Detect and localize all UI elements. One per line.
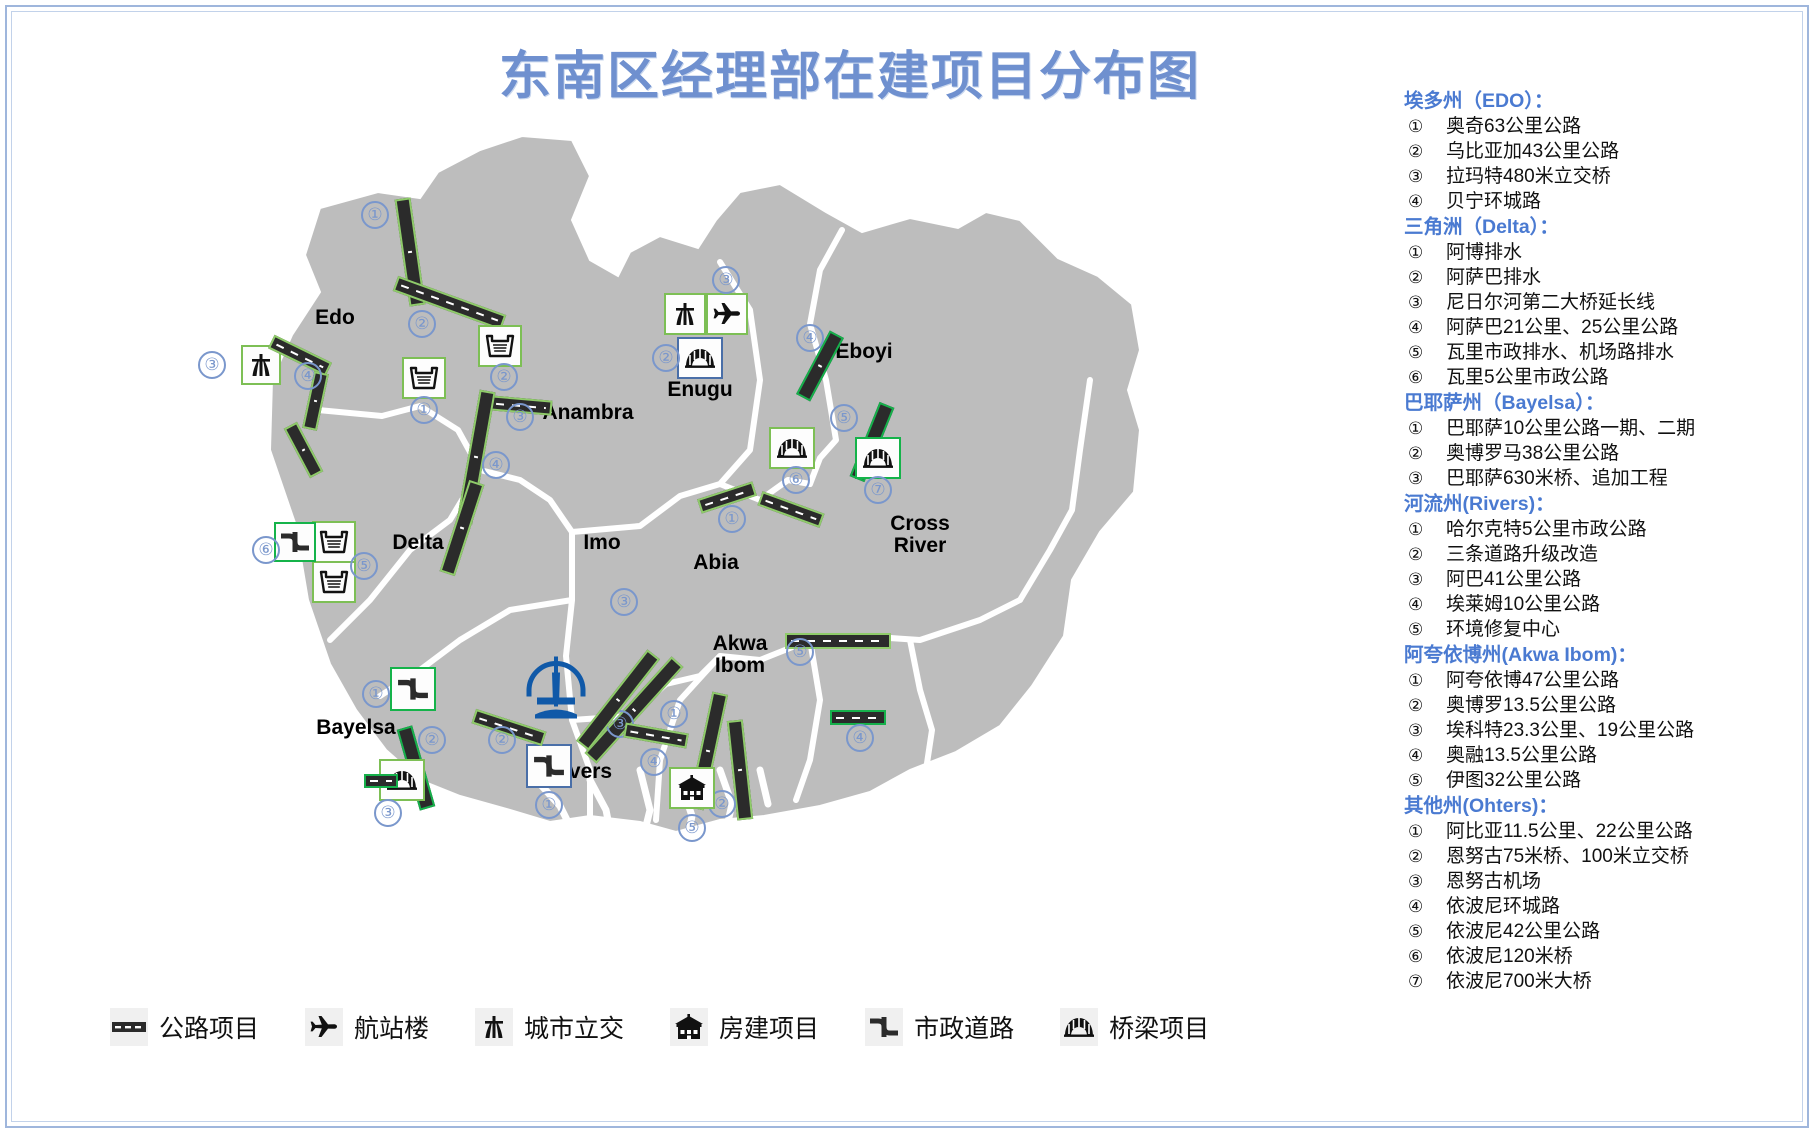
project-number: ③ — [1404, 466, 1446, 491]
project-number: ③ — [1404, 567, 1446, 592]
group-title-akwa-ibom: 阿夸依博州(Akwa Ibom)： — [1404, 643, 1794, 668]
index-oth-5: ⑤ — [830, 404, 858, 432]
index-riv-2: ② — [488, 726, 516, 754]
project-item[interactable]: ② 三条道路升级改造 — [1404, 542, 1794, 567]
index-delta-4: ④ — [482, 451, 510, 479]
bridge-marker-oth-2[interactable] — [677, 337, 723, 379]
project-label: 恩努古75米桥、100米立交桥 — [1446, 844, 1689, 869]
project-label: 埃科特23.3公里、19公里公路 — [1446, 718, 1694, 743]
project-item[interactable]: ③ 尼日尔河第二大桥延长线 — [1404, 290, 1794, 315]
project-label: 奥博罗13.5公里公路 — [1446, 693, 1616, 718]
project-number: ⑥ — [1404, 365, 1446, 390]
airplane-icon — [305, 1008, 343, 1046]
project-item[interactable]: ③ 拉玛特480米立交桥 — [1404, 164, 1794, 189]
road-icon — [110, 1008, 148, 1046]
project-index-list: 埃多州（EDO）： ① 奥奇63公里公路 ② 乌比亚加43公里公路 ③ 拉玛特4… — [1404, 88, 1794, 994]
project-item[interactable]: ② 乌比亚加43公里公路 — [1404, 139, 1794, 164]
project-item[interactable]: ⑤ 依波尼42公里公路 — [1404, 919, 1794, 944]
bridge-marker-oth-7[interactable] — [855, 437, 901, 479]
index-akwa-1: ① — [660, 700, 688, 728]
group-title-bayelsa: 巴耶萨州（Bayelsa）： — [1404, 391, 1794, 416]
municipal-road-marker-riv-1[interactable] — [526, 744, 572, 788]
bridge-marker-oth-6[interactable] — [769, 427, 815, 469]
project-number: ① — [1404, 819, 1446, 844]
legend-item-terminal[interactable]: 航站楼 — [305, 1008, 429, 1046]
map-poster: 东南区经理部在建项目分布图 — [0, 0, 1814, 1133]
project-item[interactable]: ⑤ 环境修复中心 — [1404, 617, 1794, 642]
legend-item-municipal-road[interactable]: 市政道路 — [865, 1008, 1014, 1046]
project-label: 依波尼环城路 — [1446, 894, 1560, 919]
legend-label: 公路项目 — [159, 1009, 259, 1045]
project-item[interactable]: ③ 巴耶萨630米桥、追加工程 — [1404, 466, 1794, 491]
interchange-icon — [671, 300, 699, 328]
project-item[interactable]: ⑥ 瓦里5公里市政公路 — [1404, 365, 1794, 390]
project-label: 阿博排水 — [1446, 240, 1522, 265]
project-label: 奥博罗马38公里公路 — [1446, 441, 1619, 466]
project-label: 巴耶萨10公里公路一期、二期 — [1446, 416, 1695, 441]
project-label: 依波尼700米大桥 — [1446, 969, 1592, 994]
project-number: ⑤ — [1404, 617, 1446, 642]
project-item[interactable]: ① 阿夸依博47公里公路 — [1404, 668, 1794, 693]
index-akwa-5: ⑤ — [786, 638, 814, 666]
project-label: 奥融13.5公里公路 — [1446, 743, 1597, 768]
index-akwa-4: ④ — [846, 724, 874, 752]
group-title-rivers: 河流州(Rivers)： — [1404, 492, 1794, 517]
index-delta-3: ③ — [506, 403, 534, 431]
index-edo-3: ③ — [198, 351, 226, 379]
municipal-road-icon — [280, 527, 310, 557]
project-item[interactable]: ④ 依波尼环城路 — [1404, 894, 1794, 919]
group-title-delta: 三角洲（Delta）： — [1404, 215, 1794, 240]
airplane-icon — [712, 301, 742, 327]
company-emblem — [523, 653, 589, 732]
project-number: ① — [1404, 668, 1446, 693]
bridge-icon — [684, 345, 716, 371]
project-number: ③ — [1404, 164, 1446, 189]
project-item[interactable]: ④ 阿萨巴21公里、25公里公路 — [1404, 315, 1794, 340]
interchange-marker-oth-2[interactable] — [664, 293, 706, 335]
project-number: ④ — [1404, 743, 1446, 768]
municipal-road-icon — [865, 1008, 903, 1046]
project-item[interactable]: ① 巴耶萨10公里公路一期、二期 — [1404, 416, 1794, 441]
legend-label: 桥梁项目 — [1109, 1009, 1209, 1045]
project-number: ④ — [1404, 894, 1446, 919]
project-number: ④ — [1404, 315, 1446, 340]
municipal-road-marker-delta-6[interactable] — [274, 522, 316, 562]
project-label: 依波尼120米桥 — [1446, 944, 1573, 969]
project-item[interactable]: ② 奥博罗13.5公里公路 — [1404, 693, 1794, 718]
building-icon — [670, 1008, 708, 1046]
drainage-icon — [318, 528, 350, 556]
index-riv-1: ① — [535, 791, 563, 819]
index-edo-1: ① — [361, 201, 389, 229]
project-item[interactable]: ① 哈尔克特5公里市政公路 — [1404, 517, 1794, 542]
project-number: ① — [1404, 416, 1446, 441]
project-item[interactable]: ⑥ 依波尼120米桥 — [1404, 944, 1794, 969]
project-item[interactable]: ③ 埃科特23.3公里、19公里公路 — [1404, 718, 1794, 743]
project-number: ③ — [1404, 290, 1446, 315]
project-item[interactable]: ③ 恩努古机场 — [1404, 869, 1794, 894]
project-label: 环境修复中心 — [1446, 617, 1560, 642]
building-icon — [676, 774, 708, 802]
nigeria-southeast-map: Edo Delta Anambra Enugu Eboyi Imo Abia C… — [120, 80, 1200, 870]
group-title-others: 其他州(Ohters)： — [1404, 794, 1794, 819]
project-number: ② — [1404, 542, 1446, 567]
legend-item-road[interactable]: 公路项目 — [110, 1008, 259, 1046]
project-label: 哈尔克特5公里市政公路 — [1446, 517, 1647, 542]
project-label: 伊图32公里公路 — [1446, 768, 1581, 793]
project-item[interactable]: ③ 阿巴41公里公路 — [1404, 567, 1794, 592]
project-label: 巴耶萨630米桥、追加工程 — [1446, 466, 1668, 491]
bridge-icon — [776, 435, 808, 461]
index-bay-2: ② — [418, 726, 446, 754]
project-item[interactable]: ⑦ 依波尼700米大桥 — [1404, 969, 1794, 994]
project-number: ② — [1404, 441, 1446, 466]
index-riv-4: ④ — [640, 748, 668, 776]
project-number: ⑦ — [1404, 969, 1446, 994]
project-label: 瓦里5公里市政公路 — [1446, 365, 1609, 390]
legend-item-interchange[interactable]: 城市立交 — [475, 1008, 624, 1046]
drainage-marker-delta-1[interactable] — [402, 357, 446, 399]
bridge-icon — [862, 445, 894, 471]
drainage-icon — [408, 364, 440, 392]
municipal-road-icon — [397, 673, 429, 705]
project-number: ⑤ — [1404, 340, 1446, 365]
project-number: ① — [1404, 114, 1446, 139]
map-legend: 公路项目 航站楼 城市立交 — [110, 1008, 1209, 1046]
project-label: 恩努古机场 — [1446, 869, 1541, 894]
index-riv-3: ③ — [610, 588, 638, 616]
project-number: ⑤ — [1404, 919, 1446, 944]
index-bay-3: ③ — [374, 799, 402, 827]
project-label: 阿巴41公里公路 — [1446, 567, 1581, 592]
project-item[interactable]: ④ 贝宁环城路 — [1404, 189, 1794, 214]
drainage-marker-delta-5a[interactable] — [312, 521, 356, 563]
project-label: 阿萨巴21公里、25公里公路 — [1446, 315, 1678, 340]
index-edo-2: ② — [408, 310, 436, 338]
project-number: ⑥ — [1404, 944, 1446, 969]
project-item[interactable]: ⑤ 伊图32公里公路 — [1404, 768, 1794, 793]
index-delta-5: ⑤ — [350, 552, 378, 580]
legend-label: 市政道路 — [914, 1009, 1014, 1045]
project-label: 埃莱姆10公里公路 — [1446, 592, 1600, 617]
project-item[interactable]: ② 恩努古75米桥、100米立交桥 — [1404, 844, 1794, 869]
project-label: 乌比亚加43公里公路 — [1446, 139, 1619, 164]
project-label: 依波尼42公里公路 — [1446, 919, 1600, 944]
project-label: 尼日尔河第二大桥延长线 — [1446, 290, 1655, 315]
project-label: 阿夸依博47公里公路 — [1446, 668, 1619, 693]
index-oth-3: ③ — [712, 266, 740, 294]
index-delta-2: ② — [490, 363, 518, 391]
drainage-icon — [318, 568, 350, 596]
index-oth-2: ② — [652, 344, 680, 372]
project-number: ③ — [1404, 718, 1446, 743]
road-marker-bay-3b[interactable] — [364, 774, 398, 788]
project-label: 瓦里市政排水、机场路排水 — [1446, 340, 1674, 365]
project-label: 贝宁环城路 — [1446, 189, 1541, 214]
index-oth-4: ④ — [796, 324, 824, 352]
drainage-marker-delta-2[interactable] — [478, 325, 522, 367]
index-delta-6: ⑥ — [252, 536, 280, 564]
interchange-icon — [247, 351, 275, 379]
legend-label: 房建项目 — [719, 1009, 819, 1045]
project-item[interactable]: ① 阿博排水 — [1404, 240, 1794, 265]
project-item[interactable]: ① 奥奇63公里公路 — [1404, 114, 1794, 139]
project-number: ① — [1404, 240, 1446, 265]
legend-item-building[interactable]: 房建项目 — [670, 1008, 819, 1046]
municipal-road-marker-bay-1[interactable] — [390, 667, 436, 711]
project-number: ② — [1404, 139, 1446, 164]
index-bay-1: ① — [362, 680, 390, 708]
project-label: 阿比亚11.5公里、22公里公路 — [1446, 819, 1693, 844]
project-number: ② — [1404, 265, 1446, 290]
drainage-icon — [484, 332, 516, 360]
municipal-road-icon — [533, 750, 565, 782]
project-number: ② — [1404, 844, 1446, 869]
project-label: 奥奇63公里公路 — [1446, 114, 1581, 139]
project-number: ② — [1404, 693, 1446, 718]
interchange-icon — [475, 1008, 513, 1046]
building-marker-riv-5[interactable] — [669, 767, 715, 809]
project-item[interactable]: ④ 埃莱姆10公里公路 — [1404, 592, 1794, 617]
legend-item-bridge[interactable]: 桥梁项目 — [1060, 1008, 1209, 1046]
project-number: ① — [1404, 517, 1446, 542]
project-number: ③ — [1404, 869, 1446, 894]
legend-label: 航站楼 — [354, 1009, 429, 1045]
index-edo-4: ④ — [294, 362, 322, 390]
index-delta-1: ① — [410, 396, 438, 424]
project-label: 阿萨巴排水 — [1446, 265, 1541, 290]
project-number: ④ — [1404, 189, 1446, 214]
project-item[interactable]: ② 阿萨巴排水 — [1404, 265, 1794, 290]
road-marker-akwa-4[interactable] — [830, 710, 886, 725]
index-oth-1: ① — [718, 505, 746, 533]
index-oth-7: ⑦ — [864, 476, 892, 504]
project-item[interactable]: ② 奥博罗马38公里公路 — [1404, 441, 1794, 466]
company-logo-icon — [523, 653, 589, 727]
airport-marker-oth-3[interactable] — [706, 293, 748, 335]
group-title-edo: 埃多州（EDO）： — [1404, 89, 1794, 114]
project-number: ④ — [1404, 592, 1446, 617]
index-riv-5: ⑤ — [678, 814, 706, 842]
legend-label: 城市立交 — [524, 1009, 624, 1045]
project-label: 拉玛特480米立交桥 — [1446, 164, 1611, 189]
project-item[interactable]: ⑤ 瓦里市政排水、机场路排水 — [1404, 340, 1794, 365]
project-label: 三条道路升级改造 — [1446, 542, 1598, 567]
index-oth-6: ⑥ — [782, 466, 810, 494]
project-item[interactable]: ④ 奥融13.5公里公路 — [1404, 743, 1794, 768]
bridge-icon — [1060, 1008, 1098, 1046]
project-item[interactable]: ① 阿比亚11.5公里、22公里公路 — [1404, 819, 1794, 844]
project-number: ⑤ — [1404, 768, 1446, 793]
